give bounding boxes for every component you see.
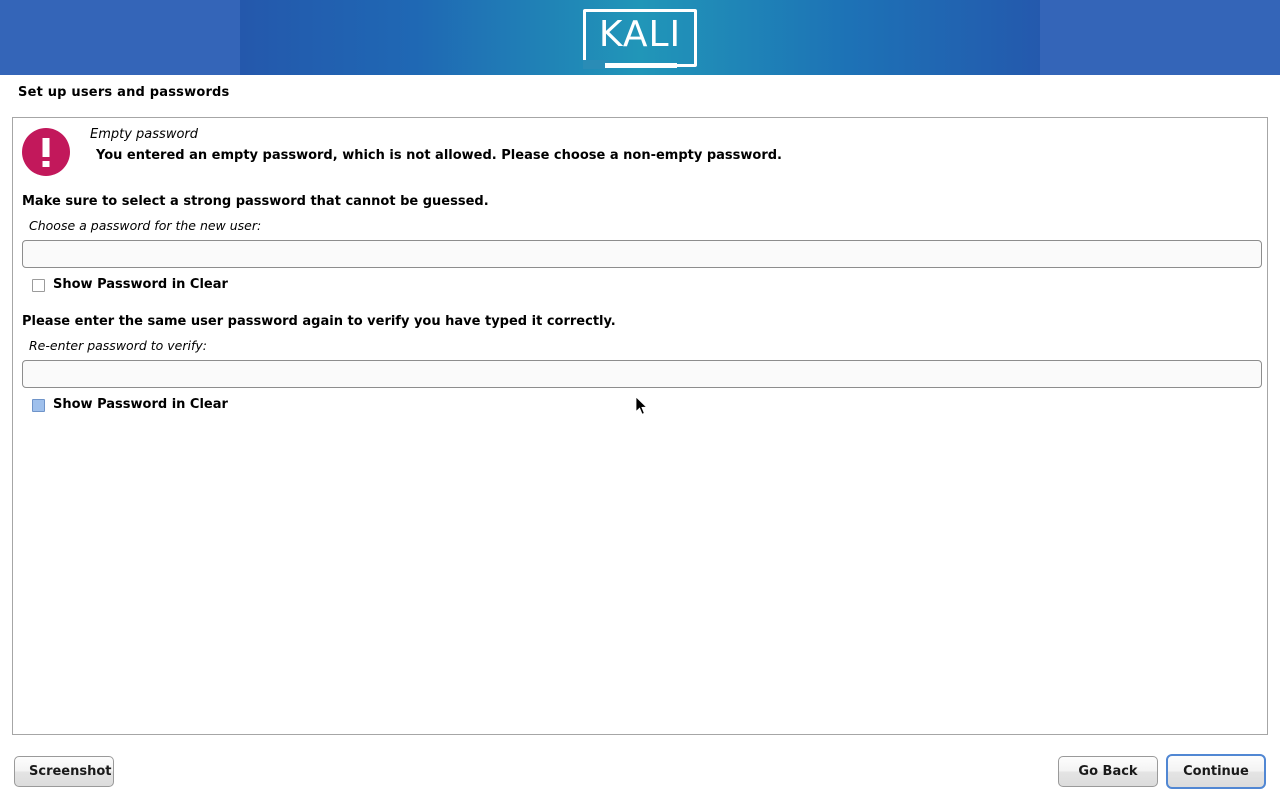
show-password-2-row[interactable]: Show Password in Clear bbox=[32, 398, 1260, 412]
show-password-2-label: Show Password in Clear bbox=[53, 398, 228, 412]
password-verify-hint: Please enter the same user password agai… bbox=[22, 313, 1260, 331]
password-field-label: Choose a password for the new user: bbox=[29, 217, 1260, 235]
screenshot-button[interactable]: Screenshot bbox=[14, 756, 114, 787]
installer-footer: Screenshot Go Back Continue bbox=[0, 750, 1280, 800]
exclamation-stem bbox=[43, 138, 50, 157]
continue-button[interactable]: Continue bbox=[1166, 754, 1266, 789]
show-password-1-checkbox[interactable] bbox=[32, 279, 45, 292]
error-description: You entered an empty password, which is … bbox=[96, 146, 782, 166]
exclamation-dot bbox=[43, 161, 50, 167]
error-text-group: Empty password You entered an empty pass… bbox=[90, 126, 782, 166]
error-title: Empty password bbox=[90, 126, 782, 144]
kali-logo-text: KALI bbox=[583, 13, 697, 57]
installer-content-panel: Empty password You entered an empty pass… bbox=[12, 117, 1268, 735]
show-password-1-label: Show Password in Clear bbox=[53, 278, 228, 292]
password-form: Make sure to select a strong password th… bbox=[22, 193, 1260, 412]
show-password-1-row[interactable]: Show Password in Clear bbox=[32, 278, 1260, 292]
password-verify-field-label: Re-enter password to verify: bbox=[29, 337, 1260, 355]
page-title: Set up users and passwords bbox=[18, 85, 230, 100]
error-exclamation-icon bbox=[22, 128, 70, 176]
kali-banner: KALI bbox=[0, 0, 1280, 75]
password-strength-hint: Make sure to select a strong password th… bbox=[22, 193, 1260, 211]
error-message-block: Empty password You entered an empty pass… bbox=[22, 126, 1252, 176]
kali-logo: KALI bbox=[583, 9, 697, 67]
show-password-2-checkbox[interactable] bbox=[32, 399, 45, 412]
kali-logo-underline bbox=[605, 63, 677, 68]
password-verify-input[interactable] bbox=[22, 360, 1262, 388]
password-input[interactable] bbox=[22, 240, 1262, 268]
go-back-button[interactable]: Go Back bbox=[1058, 756, 1158, 787]
section-spacer bbox=[22, 292, 1260, 313]
